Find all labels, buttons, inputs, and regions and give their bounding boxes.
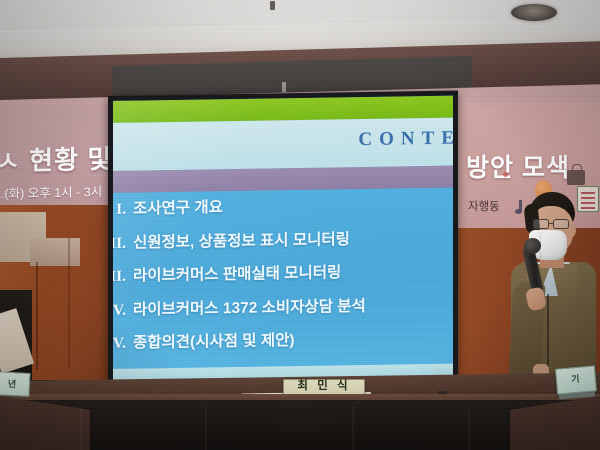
skirt-fold [205, 406, 207, 450]
toc-numeral: I. [113, 201, 126, 219]
toc-numeral: III. [113, 268, 126, 286]
toc-label: 라이브커머스 1372 소비자상담 분석 [133, 293, 366, 319]
toc-label: 신원정보, 상품정보 표시 모니터링 [133, 227, 350, 252]
projected-slide: CONTE I. 조사연구 개요 II. 신원정보, 상품정보 표시 모니터링 … [113, 96, 453, 382]
banner-left-title: ㅅ 현황 및 소 [0, 139, 116, 179]
handbag-illustration-icon [567, 170, 585, 185]
sprinkler-head-icon [270, 1, 275, 10]
toc-numeral: II. [113, 234, 126, 252]
toc-label: 종합의견(시사점 및 제안) [133, 328, 295, 353]
wood-panel-seam [68, 238, 70, 368]
toc-item: V. 종합의견(시사점 및 제안) [113, 326, 453, 353]
eyeglasses-icon [532, 219, 572, 230]
conference-room-photo: ㅅ 현황 및 소 1.(화) 오후 1시 - 3시 방안 모색 자행동 CONT… [0, 0, 600, 450]
toc-numeral: V. [113, 335, 126, 353]
toc-item: III. 라이브커머스 판매실태 모니터링 [113, 259, 453, 286]
glasses-lens [533, 219, 549, 229]
toc-label: 조사연구 개요 [133, 195, 223, 218]
nameplate-left: 년 [0, 371, 31, 397]
jacket-opening [547, 294, 549, 374]
decorative-dot [503, 172, 508, 177]
slide-heading: CONTE [358, 127, 453, 151]
toc-numeral: IV. [113, 301, 126, 319]
nameplate-name: 최 민 식 [297, 381, 350, 393]
nameplate-name: 기 [556, 370, 595, 386]
toc-item: IV. 라이브커머스 1372 소비자상담 분석 [113, 292, 453, 319]
glasses-lens [553, 219, 569, 229]
slide-table-of-contents: I. 조사연구 개요 II. 신원정보, 상품정보 표시 모니터링 III. 라… [113, 192, 453, 365]
recessed-downlight-icon [511, 4, 557, 21]
skirt-fold [468, 406, 470, 450]
wall-light-panel [30, 238, 80, 266]
nameplate-right: 기 [555, 365, 597, 394]
skirt-fold [352, 406, 354, 450]
speaker-person [505, 190, 600, 385]
banner-left-subtitle: 1.(화) 오후 1시 - 3시 [0, 181, 114, 203]
toc-item: I. 조사연구 개요 [113, 192, 453, 219]
skirt-fold [80, 406, 82, 450]
banner-right-title: 방안 모색 [466, 148, 570, 184]
banner-right-subtitle: 자행동 [468, 198, 500, 214]
toc-label: 라이브커머스 판매실태 모니터링 [133, 260, 341, 285]
wood-panel-seam [36, 262, 38, 370]
nameplate-name: 년 [0, 376, 29, 391]
ceiling-vent-stem [282, 82, 286, 92]
toc-item: II. 신원정보, 상품정보 표시 모니터링 [113, 225, 453, 252]
projection-screen: CONTE I. 조사연구 개요 II. 신원정보, 상품정보 표시 모니터링 … [108, 91, 458, 388]
